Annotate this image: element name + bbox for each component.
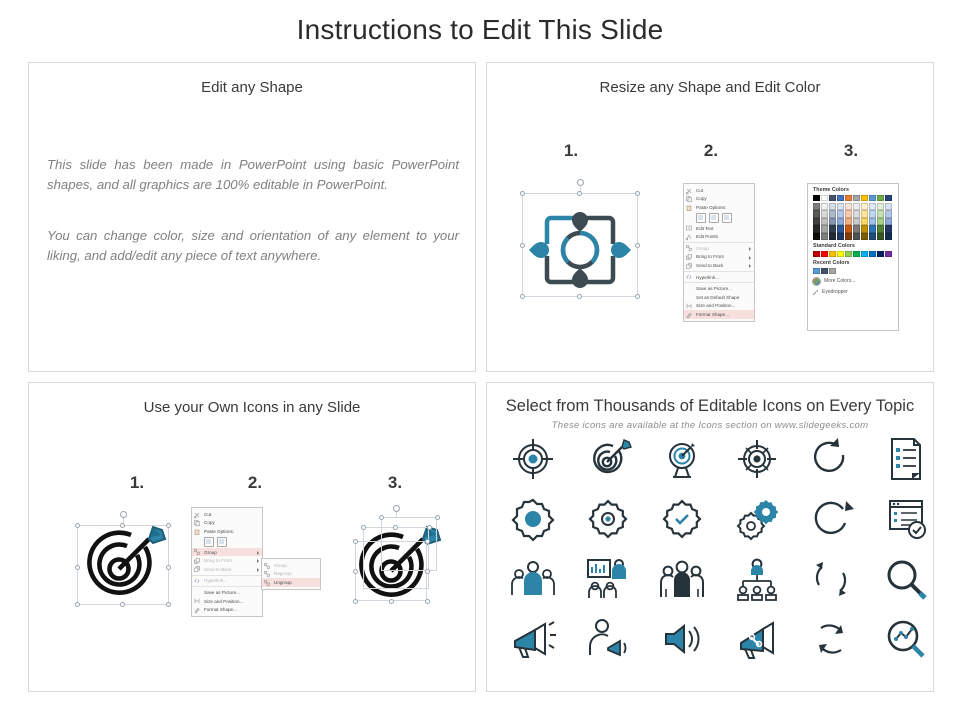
- theme-tint-swatch-2-4[interactable]: [837, 210, 844, 217]
- ungroup-icon: [264, 580, 270, 586]
- theme-tint-swatch-1-1[interactable]: [813, 203, 820, 210]
- menu-item-bring-to-front[interactable]: Bring to Front: [192, 556, 262, 565]
- recent-color-swatch-2[interactable]: [821, 268, 828, 274]
- theme-color-swatch-1[interactable]: [813, 195, 820, 201]
- step-number-2: 2.: [691, 141, 731, 161]
- icon-cell-org-chart-icon[interactable]: [729, 555, 785, 603]
- menu-item-label: Size and Position...: [696, 303, 735, 308]
- menu-item-label: Save as Picture...: [696, 286, 732, 291]
- theme-tint-swatch-5-8[interactable]: [869, 233, 876, 240]
- menu-item-paste-options[interactable]: Paste Options:: [684, 203, 754, 212]
- standard-color-swatch-8[interactable]: [869, 251, 876, 257]
- theme-color-swatch-8[interactable]: [869, 195, 876, 201]
- theme-tint-swatch-5-10[interactable]: [885, 233, 892, 240]
- eyedropper-icon: [812, 289, 819, 296]
- instruction-paragraph-2: You can change color, size and orientati…: [47, 226, 459, 266]
- size-position-icon: [194, 598, 200, 604]
- menu-item-label: Hyperlink...: [696, 275, 719, 280]
- hyperlink-icon: [194, 578, 200, 584]
- icon-cell-gear-filled-icon[interactable]: [505, 495, 561, 543]
- menu-item-save-as-picture[interactable]: Save as Picture...: [192, 588, 262, 597]
- menu-item-label: Cut: [204, 512, 211, 517]
- submenu-arrow-icon: [257, 559, 259, 563]
- menu-item-group[interactable]: Group: [262, 561, 320, 570]
- send-back-icon: [686, 263, 692, 269]
- panel-heading-resize-shape: Resize any Shape and Edit Color: [487, 79, 933, 96]
- recent-color-swatch-3[interactable]: [829, 268, 836, 274]
- edit-points-icon: [686, 234, 692, 240]
- icon-cell-gears-pair-icon[interactable]: [729, 495, 785, 543]
- paste-options-icons[interactable]: [192, 536, 262, 548]
- shape-context-menu[interactable]: CutCopyPaste Options:Edit TextEdit Point…: [683, 183, 755, 322]
- menu-separator: [192, 586, 262, 587]
- theme-tint-swatch-3-2[interactable]: [821, 218, 828, 225]
- document-check-icon: [882, 495, 930, 543]
- clipboard-icon: [194, 529, 200, 535]
- theme-base-row[interactable]: [813, 195, 898, 201]
- group-icon: [686, 245, 692, 251]
- theme-color-picker[interactable]: Theme ColorsStandard ColorsRecent Colors…: [807, 183, 899, 331]
- theme-color-swatch-2[interactable]: [821, 195, 828, 201]
- theme-tint-swatch-4-10[interactable]: [885, 225, 892, 232]
- menu-item-send-to-back[interactable]: Send to Back: [684, 261, 754, 270]
- copy-icon: [194, 520, 200, 526]
- clipboard-icon: [686, 205, 692, 211]
- grouped-dartboard-figure[interactable]: [73, 511, 173, 611]
- menu-item-format-shape[interactable]: Format Shape...: [192, 605, 262, 614]
- standard-color-swatch-4[interactable]: [837, 251, 844, 257]
- theme-tint-swatch-5-4[interactable]: [837, 233, 844, 240]
- icon-cell-refresh-arrow-icon[interactable]: [803, 435, 859, 483]
- format-shape-icon: [194, 607, 200, 613]
- icon-cell-gear-check-icon[interactable]: [654, 495, 710, 543]
- menu-item-hyperlink[interactable]: Hyperlink...: [192, 577, 262, 586]
- ungrouped-dartboard-figure[interactable]: [347, 507, 457, 615]
- more-colors-icon: [812, 277, 821, 286]
- submenu-arrow-icon: [257, 568, 259, 572]
- icon-step-number-1: 1.: [117, 473, 157, 493]
- icon-cell-magnifier-icon[interactable]: [878, 555, 934, 603]
- people-group-icon: [509, 555, 557, 603]
- recent-color-swatch-1[interactable]: [813, 268, 820, 274]
- menu-item-group[interactable]: Group: [192, 548, 262, 557]
- scissors-icon: [686, 188, 692, 194]
- standard-color-swatch-10[interactable]: [885, 251, 892, 257]
- more-colors-menu-item[interactable]: More Colors...: [812, 277, 898, 286]
- menu-item-label: Edit Points: [696, 234, 718, 239]
- paste-option-1-icon[interactable]: [696, 213, 706, 223]
- menu-item-label: Size and Position...: [204, 599, 243, 604]
- theme-tint-swatch-3-3[interactable]: [829, 218, 836, 225]
- target-crosshair-icon: [509, 435, 557, 483]
- person-megaphone-icon: [584, 615, 632, 663]
- theme-tint-swatch-1-9[interactable]: [877, 203, 884, 210]
- paste-option-2-icon[interactable]: [709, 213, 719, 223]
- menu-item-label: Format Shape...: [204, 607, 237, 612]
- theme-color-swatch-4[interactable]: [837, 195, 844, 201]
- megaphone-icon: [509, 615, 557, 663]
- theme-tint-swatch-2-7[interactable]: [861, 210, 868, 217]
- menu-item-edit-text[interactable]: Edit Text: [684, 224, 754, 233]
- theme-tint-swatch-3-8[interactable]: [869, 218, 876, 225]
- bring-front-icon: [686, 254, 692, 260]
- theme-tint-swatch-3-6[interactable]: [853, 218, 860, 225]
- eyedropper-menu-item[interactable]: Eyedropper: [812, 289, 898, 296]
- menu-item-paste-options[interactable]: Paste Options:: [192, 527, 262, 536]
- menu-item-label: Paste Options:: [696, 205, 726, 210]
- theme-tint-swatch-5-7[interactable]: [861, 233, 868, 240]
- icon-cell-megaphone-icon[interactable]: [505, 615, 561, 663]
- group-icon: [194, 549, 200, 555]
- theme-tint-swatch-1-3[interactable]: [829, 203, 836, 210]
- panel-select-editable-icons: Select from Thousands of Editable Icons …: [486, 382, 934, 692]
- theme-tint-swatch-5-3[interactable]: [829, 233, 836, 240]
- menu-item-format-shape[interactable]: Format Shape...: [684, 310, 754, 319]
- theme-tint-swatch-3-7[interactable]: [861, 218, 868, 225]
- icon-cell-checklist-document-icon[interactable]: [878, 435, 934, 483]
- menu-item-hyperlink[interactable]: Hyperlink...: [684, 273, 754, 282]
- menu-item-edit-points[interactable]: Edit Points: [684, 232, 754, 241]
- org-chart-icon: [733, 555, 781, 603]
- menu-item-ungroup[interactable]: Ungroup: [262, 578, 320, 587]
- theme-tint-swatch-4-4[interactable]: [837, 225, 844, 232]
- menu-item-label: Copy: [204, 520, 215, 525]
- theme-tint-swatch-4-6[interactable]: [853, 225, 860, 232]
- theme-tint-swatch-4-5[interactable]: [845, 225, 852, 232]
- theme-colors-label: Theme Colors: [813, 187, 898, 193]
- menu-item-label: Save as Picture...: [204, 590, 240, 595]
- menu-item-size-and-position[interactable]: Size and Position...: [684, 302, 754, 311]
- menu-separator: [192, 575, 262, 576]
- more-colors-label: More Colors...: [824, 278, 855, 284]
- icon-context-menu[interactable]: CutCopyPaste Options:GroupBring to Front…: [191, 507, 263, 617]
- dartboard-arrow-icon: [584, 435, 632, 483]
- theme-tint-swatch-4-2[interactable]: [821, 225, 828, 232]
- icon-cell-sync-arrows-icon[interactable]: [803, 555, 859, 603]
- theme-color-swatch-5[interactable]: [845, 195, 852, 201]
- menu-item-label: Group: [274, 563, 287, 568]
- paste-option-1-icon[interactable]: [204, 537, 214, 547]
- theme-tint-swatch-2-3[interactable]: [829, 210, 836, 217]
- theme-tint-swatch-5-9[interactable]: [877, 233, 884, 240]
- magnifier-chart-icon: [882, 615, 930, 663]
- target-stand-icon: [658, 435, 706, 483]
- theme-tint-swatch-1-4[interactable]: [837, 203, 844, 210]
- slide-canvas: Instructions to Edit This Slide Edit any…: [0, 0, 960, 720]
- menu-item-label: Edit Text: [696, 226, 714, 231]
- menu-item-send-to-back[interactable]: Send to Back: [192, 565, 262, 574]
- menu-item-size-and-position[interactable]: Size and Position...: [192, 597, 262, 606]
- theme-tint-swatch-1-8[interactable]: [869, 203, 876, 210]
- regroup-icon: [264, 571, 270, 577]
- rotation-handle[interactable]: [120, 511, 127, 518]
- menu-item-label: Paste Options:: [204, 529, 234, 534]
- gear-outline-icon: [584, 495, 632, 543]
- icon-cell-target-stand-icon[interactable]: [654, 435, 710, 483]
- panel-resize-shape-edit-color: Resize any Shape and Edit Color 1. 2. 3.: [486, 62, 934, 372]
- standard-color-swatch-3[interactable]: [829, 251, 836, 257]
- standard-color-swatch-5[interactable]: [845, 251, 852, 257]
- theme-tint-swatch-4-3[interactable]: [829, 225, 836, 232]
- gear-check-icon: [658, 495, 706, 543]
- icon-cell-magnifier-chart-icon[interactable]: [878, 615, 934, 663]
- theme-tint-swatch-3-5[interactable]: [845, 218, 852, 225]
- theme-tint-swatch-4-1[interactable]: [813, 225, 820, 232]
- sync-arrows-icon: [807, 555, 855, 603]
- theme-color-swatch-3[interactable]: [829, 195, 836, 201]
- send-back-icon: [194, 566, 200, 572]
- menu-item-label: Set as Default Shape: [696, 295, 739, 300]
- menu-separator: [684, 282, 754, 283]
- menu-item-regroup[interactable]: Regroup: [262, 570, 320, 579]
- panel-heading-edit-shape: Edit any Shape: [29, 79, 475, 96]
- menu-item-label: Regroup: [274, 571, 292, 576]
- menu-item-bring-to-front[interactable]: Bring to Front: [684, 253, 754, 262]
- refresh-arrow-icon: [807, 435, 855, 483]
- icon-cell-team-crowd-icon[interactable]: [654, 555, 710, 603]
- icon-cell-reload-circle-icon[interactable]: [803, 495, 859, 543]
- panel-heading-own-icons: Use your Own Icons in any Slide: [29, 399, 475, 416]
- submenu-arrow-icon: [257, 551, 259, 555]
- standard-color-swatch-6[interactable]: [853, 251, 860, 257]
- rotation-handle[interactable]: [577, 179, 584, 186]
- copy-icon: [686, 196, 692, 202]
- step-number-3: 3.: [831, 141, 871, 161]
- theme-color-swatch-7[interactable]: [861, 195, 868, 201]
- icon-cell-target-scope-icon[interactable]: [729, 435, 785, 483]
- menu-item-label: Bring to Front: [696, 254, 724, 259]
- standard-color-swatch-1[interactable]: [813, 251, 820, 257]
- theme-tint-swatch-5-5[interactable]: [845, 233, 852, 240]
- gear-filled-icon: [509, 495, 557, 543]
- icon-cell-target-crosshair-icon[interactable]: [505, 435, 561, 483]
- menu-separator: [684, 271, 754, 272]
- reload-circle-icon: [807, 495, 855, 543]
- menu-item-label: Bring to Front: [204, 558, 232, 563]
- menu-item-cut[interactable]: Cut: [192, 510, 262, 519]
- theme-color-swatch-9[interactable]: [877, 195, 884, 201]
- panel-heading-select-icons: Select from Thousands of Editable Icons …: [487, 397, 933, 416]
- theme-tint-swatch-2-1[interactable]: [813, 210, 820, 217]
- menu-item-label: Ungroup: [274, 580, 292, 585]
- panel-subheading-slidegeeks: These icons are available at the Icons s…: [487, 420, 933, 431]
- gears-pair-icon: [733, 495, 781, 543]
- magnifier-icon: [882, 555, 930, 603]
- team-crowd-icon: [658, 555, 706, 603]
- menu-item-label: Send to Back: [696, 263, 723, 268]
- theme-tint-swatch-4-9[interactable]: [877, 225, 884, 232]
- icon-cell-document-check-icon[interactable]: [878, 495, 934, 543]
- icon-cell-cycle-arrows-icon[interactable]: [803, 615, 859, 663]
- icon-cell-person-megaphone-icon[interactable]: [580, 615, 636, 663]
- theme-tint-row-3[interactable]: [813, 218, 898, 225]
- icon-cell-dartboard-arrow-icon[interactable]: [580, 435, 636, 483]
- group-icon: [264, 563, 270, 569]
- theme-tint-swatch-2-2[interactable]: [821, 210, 828, 217]
- theme-tint-row-4[interactable]: [813, 225, 898, 232]
- icon-step-number-2: 2.: [235, 473, 275, 493]
- recent-colors-label: Recent Colors: [813, 260, 898, 266]
- menu-item-label: Hyperlink...: [204, 578, 227, 583]
- icon-cell-presentation-team-icon[interactable]: [580, 555, 636, 603]
- theme-tint-row-5[interactable]: [813, 233, 898, 240]
- panel-edit-any-shape: Edit any Shape This slide has been made …: [28, 62, 476, 372]
- edit-text-icon: [686, 225, 692, 231]
- theme-tint-swatch-5-6[interactable]: [853, 233, 860, 240]
- size-position-icon: [686, 303, 692, 309]
- hyperlink-icon: [686, 274, 692, 280]
- standard-colors-label: Standard Colors: [813, 243, 898, 249]
- menu-item-copy[interactable]: Copy: [684, 195, 754, 204]
- menu-item-label: Send to Back: [204, 567, 231, 572]
- submenu-arrow-icon: [749, 256, 751, 260]
- cycle-arrows-icon: [807, 615, 855, 663]
- speaker-icon: [658, 615, 706, 663]
- menu-item-label: Format Shape...: [696, 312, 729, 317]
- presentation-team-icon: [584, 555, 632, 603]
- theme-tint-swatch-4-7[interactable]: [861, 225, 868, 232]
- menu-item-set-as-default-shape[interactable]: Set as Default Shape: [684, 293, 754, 302]
- step-number-1: 1.: [551, 141, 591, 161]
- theme-tint-swatch-2-9[interactable]: [877, 210, 884, 217]
- theme-tint-swatch-5-1[interactable]: [813, 233, 820, 240]
- theme-tint-swatch-1-5[interactable]: [845, 203, 852, 210]
- standard-color-swatch-7[interactable]: [861, 251, 868, 257]
- theme-tint-swatch-2-8[interactable]: [869, 210, 876, 217]
- theme-tint-swatch-3-9[interactable]: [877, 218, 884, 225]
- icon-cell-speaker-icon[interactable]: [654, 615, 710, 663]
- theme-tint-row-2[interactable]: [813, 210, 898, 217]
- paste-options-icons[interactable]: [684, 212, 754, 224]
- theme-tint-swatch-2-5[interactable]: [845, 210, 852, 217]
- menu-item-label: Cut: [696, 188, 703, 193]
- standard-colors-row[interactable]: [813, 251, 898, 257]
- theme-tint-swatch-1-10[interactable]: [885, 203, 892, 210]
- selected-shape-figure[interactable]: [519, 180, 641, 302]
- menu-item-label: Copy: [696, 196, 707, 201]
- icon-cell-people-group-icon[interactable]: [505, 555, 561, 603]
- recent-colors-row[interactable]: [813, 268, 898, 274]
- theme-color-swatch-10[interactable]: [885, 195, 892, 201]
- icon-cell-megaphone-percent-icon[interactable]: [729, 615, 785, 663]
- megaphone-percent-icon: [733, 615, 781, 663]
- theme-tint-swatch-4-8[interactable]: [869, 225, 876, 232]
- theme-tint-swatch-3-4[interactable]: [837, 218, 844, 225]
- eyedropper-label: Eyedropper: [822, 289, 848, 295]
- theme-tint-row-1[interactable]: [813, 203, 898, 210]
- panel-use-own-icons: Use your Own Icons in any Slide 1. 2. 3.: [28, 382, 476, 692]
- theme-tint-swatch-5-2[interactable]: [821, 233, 828, 240]
- bring-front-icon: [194, 558, 200, 564]
- theme-tint-swatch-2-10[interactable]: [885, 210, 892, 217]
- icon-cell-gear-outline-icon[interactable]: [580, 495, 636, 543]
- menu-item-group[interactable]: Group: [684, 244, 754, 253]
- page-title: Instructions to Edit This Slide: [0, 14, 960, 46]
- menu-separator: [684, 242, 754, 243]
- rotation-handle[interactable]: [393, 505, 400, 512]
- instruction-paragraph-1: This slide has been made in PowerPoint u…: [47, 155, 459, 195]
- menu-item-label: Group: [204, 550, 217, 555]
- theme-tint-swatch-3-10[interactable]: [885, 218, 892, 225]
- standard-color-swatch-2[interactable]: [821, 251, 828, 257]
- scissors-icon: [194, 512, 200, 518]
- menu-item-cut[interactable]: Cut: [684, 186, 754, 195]
- theme-tint-swatch-1-6[interactable]: [853, 203, 860, 210]
- group-submenu[interactable]: GroupRegroupUngroup: [261, 558, 321, 590]
- menu-item-label: Group: [696, 246, 709, 251]
- submenu-arrow-icon: [749, 247, 751, 251]
- theme-color-swatch-6[interactable]: [853, 195, 860, 201]
- icon-step-number-3: 3.: [375, 473, 415, 493]
- checklist-document-icon: [882, 435, 930, 483]
- theme-tint-swatch-3-1[interactable]: [813, 218, 820, 225]
- theme-tint-swatch-1-7[interactable]: [861, 203, 868, 210]
- paste-option-2-icon[interactable]: [217, 537, 227, 547]
- theme-tint-swatch-2-6[interactable]: [853, 210, 860, 217]
- format-shape-icon: [686, 312, 692, 318]
- menu-item-copy[interactable]: Copy: [192, 519, 262, 528]
- submenu-arrow-icon: [749, 264, 751, 268]
- standard-color-swatch-9[interactable]: [877, 251, 884, 257]
- menu-item-save-as-picture[interactable]: Save as Picture...: [684, 284, 754, 293]
- paste-option-3-icon[interactable]: [722, 213, 732, 223]
- target-scope-icon: [733, 435, 781, 483]
- theme-tint-swatch-1-2[interactable]: [821, 203, 828, 210]
